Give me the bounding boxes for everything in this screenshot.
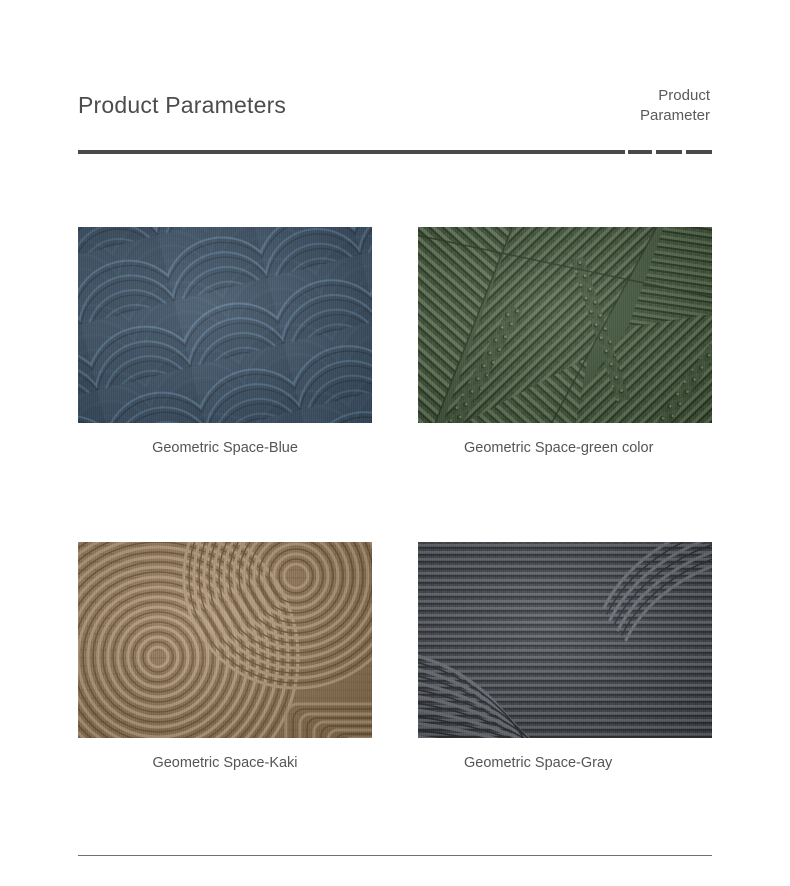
header-divider-solid bbox=[78, 150, 625, 154]
product-caption-kaki: Geometric Space-Kaki bbox=[78, 754, 372, 773]
carpet-swatch-gray[interactable] bbox=[418, 542, 712, 738]
angular-line-pattern-graphic bbox=[418, 227, 712, 423]
product-row-2: Geometric Space-Kaki bbox=[78, 542, 712, 782]
product-grid: Geometric Space-Blue bbox=[78, 227, 712, 782]
header-divider-dash-1 bbox=[628, 150, 652, 154]
product-caption-blue: Geometric Space-Blue bbox=[78, 439, 372, 458]
header-subtitle-line-2: Parameter bbox=[560, 106, 710, 126]
header-divider-dash-2 bbox=[656, 150, 682, 154]
rib-sweep-pattern-graphic bbox=[418, 542, 712, 738]
product-parameters-page: Product Parameters Product Parameter bbox=[0, 0, 790, 886]
concentric-circle-pattern-graphic bbox=[78, 542, 372, 738]
footer-divider bbox=[78, 855, 712, 856]
product-card-green[interactable]: Geometric Space-green color bbox=[418, 227, 712, 458]
product-card-gray[interactable]: Geometric Space-Gray bbox=[418, 542, 712, 773]
page-title: Product Parameters bbox=[78, 92, 286, 119]
product-caption-gray: Geometric Space-Gray bbox=[418, 754, 712, 773]
carpet-swatch-kaki[interactable] bbox=[78, 542, 372, 738]
header: Product Parameters Product Parameter bbox=[78, 80, 712, 160]
product-card-blue[interactable]: Geometric Space-Blue bbox=[78, 227, 372, 458]
carpet-swatch-blue[interactable] bbox=[78, 227, 372, 423]
wave-pattern-graphic bbox=[78, 227, 372, 423]
product-caption-green: Geometric Space-green color bbox=[418, 439, 712, 458]
header-divider-dash-3 bbox=[686, 150, 712, 154]
header-divider bbox=[78, 150, 712, 154]
header-subtitle-line-1: Product bbox=[560, 86, 710, 106]
product-row-1: Geometric Space-Blue bbox=[78, 227, 712, 542]
header-subtitle: Product Parameter bbox=[560, 86, 710, 126]
carpet-swatch-green[interactable] bbox=[418, 227, 712, 423]
product-card-kaki[interactable]: Geometric Space-Kaki bbox=[78, 542, 372, 773]
